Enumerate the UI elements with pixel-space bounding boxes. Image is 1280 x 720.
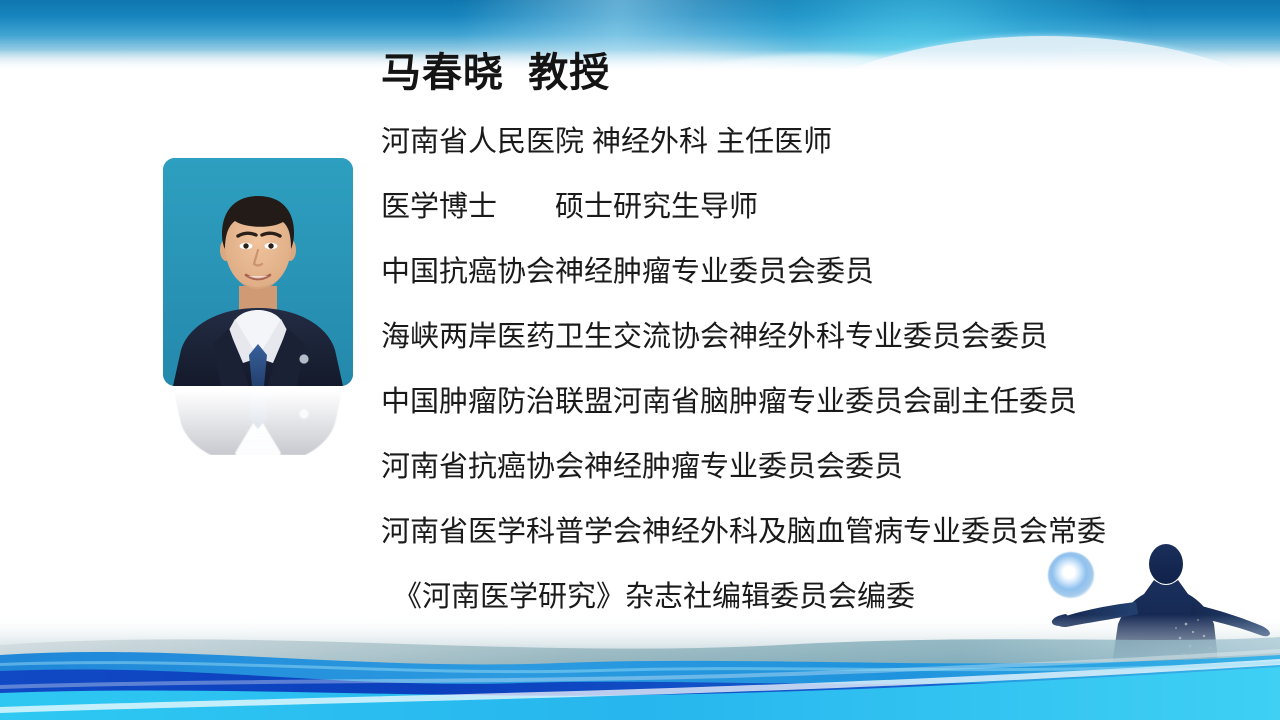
portrait-photo	[163, 158, 353, 386]
list-item: 河南省人民医院 神经外科 主任医师	[381, 120, 1211, 185]
banner-bottom-fade	[0, 50, 1280, 72]
portrait-reflection	[163, 387, 353, 455]
list-item: 中国抗癌协会神经肿瘤专业委员会委员	[381, 250, 1211, 315]
list-item: 医学博士 硕士研究生导师	[381, 185, 1211, 250]
bottom-wave-decoration	[0, 615, 1280, 720]
list-item: 河南省抗癌协会神经肿瘤专业委员会委员	[381, 445, 1211, 510]
presentation-slide: 马春晓 教授 河南省人民医院 神经外科 主任医师 医学博士 硕士研究生导师 中国…	[0, 0, 1280, 720]
speaker-name-title: 马春晓 教授	[381, 53, 610, 93]
list-item: 海峡两岸医药卫生交流协会神经外科专业委员会委员	[381, 315, 1211, 380]
list-item: 中国肿瘤防治联盟河南省脑肿瘤专业委员会副主任委员	[381, 380, 1211, 445]
speaker-portrait	[163, 158, 353, 386]
glowing-orb-icon	[1048, 552, 1094, 598]
top-banner-decoration	[0, 0, 1280, 72]
